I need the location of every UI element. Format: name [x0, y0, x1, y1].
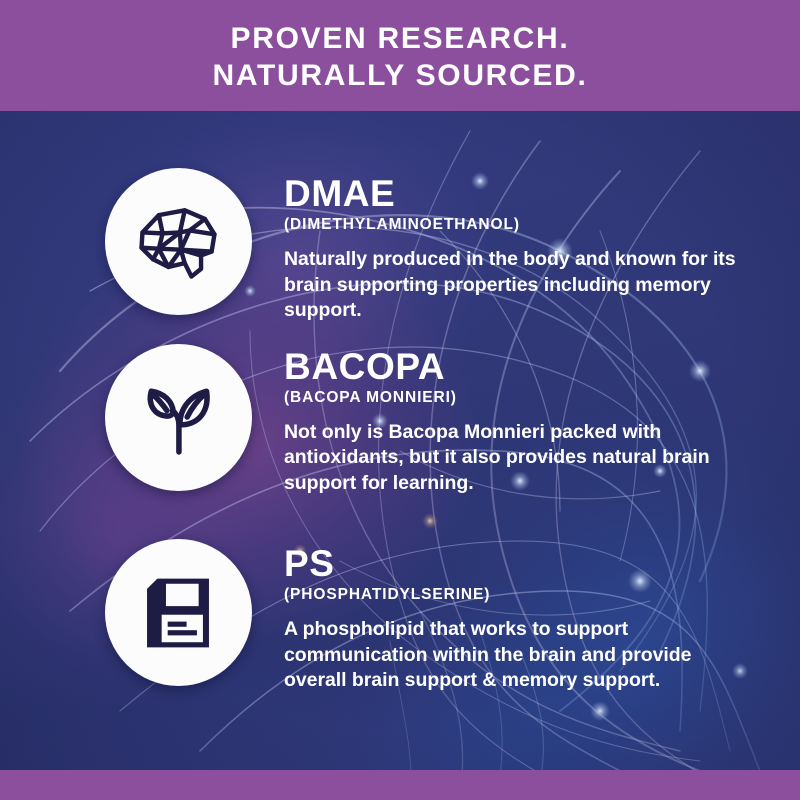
ingredient-badge-dmae — [105, 168, 252, 315]
plant-sprout-icon — [132, 371, 224, 463]
badge-wrapper — [0, 344, 253, 491]
ingredient-badge-ps — [105, 539, 252, 686]
headline-line-1: PROVEN RESEARCH. — [231, 20, 570, 57]
main-content-area: DMAE (DIMETHYLAMINOETHANOL) Naturally pr… — [0, 111, 800, 770]
ingredient-description: Not only is Bacopa Monnieri packed with … — [284, 420, 754, 497]
ingredient-list: DMAE (DIMETHYLAMINOETHANOL) Naturally pr… — [0, 111, 800, 694]
ingredient-title: PS — [284, 543, 776, 584]
ingredient-title: BACOPA — [284, 346, 776, 387]
ingredient-description: A phospholipid that works to support com… — [284, 617, 754, 694]
ingredient-subtitle: (PHOSPHATIDYLSERINE) — [284, 585, 776, 604]
ingredient-row-ps: PS (PHOSPHATIDYLSERINE) A phospholipid t… — [0, 539, 800, 694]
badge-wrapper — [0, 168, 253, 315]
ingredient-badge-bacopa — [105, 344, 252, 491]
ingredient-title: DMAE — [284, 173, 776, 214]
ingredient-text-ps: PS (PHOSPHATIDYLSERINE) A phospholipid t… — [253, 539, 800, 694]
brain-icon — [130, 194, 226, 290]
headline-line-2: NATURALLY SOURCED. — [212, 57, 587, 94]
ingredient-subtitle: (DIMETHYLAMINOETHANOL) — [284, 215, 776, 234]
footer-banner — [0, 770, 800, 800]
ingredient-subtitle: (BACOPA MONNIERI) — [284, 388, 776, 407]
ingredient-row-dmae: DMAE (DIMETHYLAMINOETHANOL) Naturally pr… — [0, 168, 800, 324]
badge-wrapper — [0, 539, 253, 686]
ingredient-description: Naturally produced in the body and known… — [284, 247, 754, 324]
floppy-disk-icon — [135, 570, 221, 656]
ingredient-text-dmae: DMAE (DIMETHYLAMINOETHANOL) Naturally pr… — [253, 168, 800, 324]
infographic-poster: PROVEN RESEARCH. NATURALLY SOURCED. — [0, 0, 800, 800]
header-banner: PROVEN RESEARCH. NATURALLY SOURCED. — [0, 0, 800, 111]
ingredient-row-bacopa: BACOPA (BACOPA MONNIERI) Not only is Bac… — [0, 344, 800, 497]
ingredient-text-bacopa: BACOPA (BACOPA MONNIERI) Not only is Bac… — [253, 344, 800, 497]
